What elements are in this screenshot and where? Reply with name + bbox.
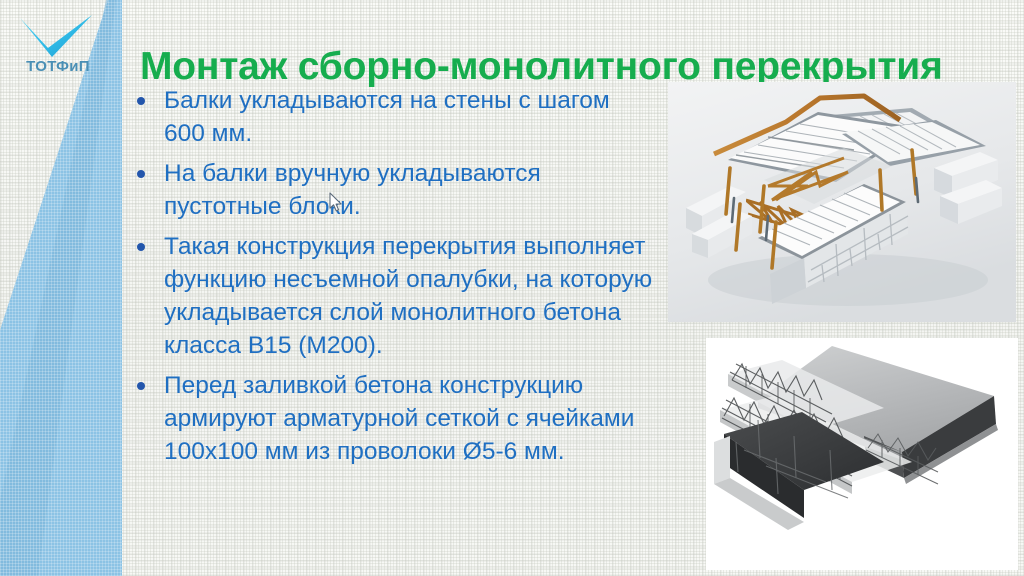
checkmark-icon: [18, 14, 94, 58]
logo: ТОТФиП: [8, 14, 108, 86]
bullet-list: Балки укладываются на стены с шагом 600 …: [128, 84, 653, 475]
image-precast-beam-block-assembly: [668, 82, 1016, 322]
bullet-item-3: Такая конструкция перекрытия выполняет ф…: [128, 230, 653, 362]
bullet-item-4: Перед заливкой бетона конструкцию армиру…: [128, 369, 653, 468]
image-monolithic-slab-cutaway: [706, 338, 1018, 570]
bullet-item-1: Балки укладываются на стены с шагом 600 …: [128, 84, 653, 150]
bullet-item-2: На балки вручную укладываются пустотные …: [128, 157, 653, 223]
logo-wordmark: ТОТФиП: [8, 58, 108, 75]
presentation-slide: ТОТФиП Монтаж сборно-монолитного перекры…: [0, 0, 1024, 576]
decorative-blue-wedge-band: [0, 0, 135, 576]
